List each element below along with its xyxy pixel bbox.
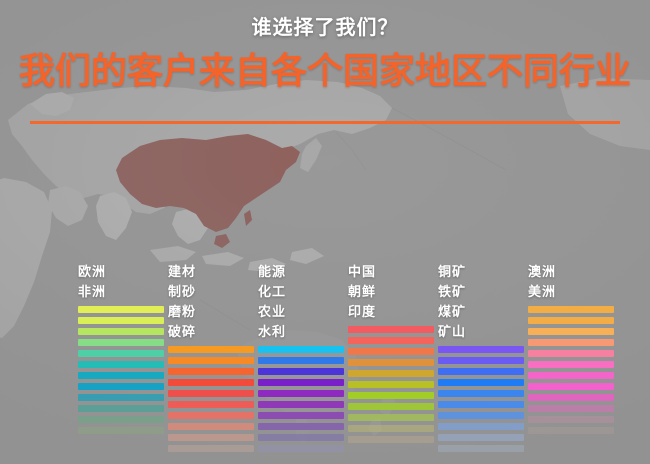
gradient-bar-stack [78, 306, 164, 434]
header: 谁选择了我们？ 我们的客户来自各个国家地区不同行业 [0, 0, 650, 90]
column-label[interactable]: 磨粉 [168, 302, 254, 322]
gradient-bar [258, 434, 344, 441]
gradient-bar [438, 346, 524, 353]
column-label[interactable]: 美洲 [528, 282, 614, 302]
gradient-bar [168, 401, 254, 408]
gradient-bar [438, 434, 524, 441]
gradient-bar [258, 357, 344, 364]
gradient-bar [348, 392, 434, 399]
title-underline-rule [30, 121, 620, 124]
gradient-bar-stack [168, 346, 254, 452]
gradient-bar [78, 427, 164, 434]
gradient-bar [528, 339, 614, 346]
gradient-bar [348, 425, 434, 432]
column-label[interactable]: 制砂 [168, 282, 254, 302]
column-label[interactable]: 非洲 [78, 282, 164, 302]
gradient-bar [78, 317, 164, 324]
gradient-bar [168, 357, 254, 364]
gradient-bar [348, 381, 434, 388]
gradient-bar [528, 394, 614, 401]
gradient-bar-stack [438, 346, 524, 452]
col-regions-2[interactable]: 澳洲美洲 [528, 262, 614, 438]
col-industries[interactable]: 能源化工农业水利 [258, 262, 344, 456]
gradient-bar [78, 416, 164, 423]
column-label[interactable]: 欧洲 [78, 262, 164, 282]
gradient-bar [348, 370, 434, 377]
col-countries[interactable]: 中国朝鲜印度 [348, 262, 434, 447]
gradient-bar [258, 346, 344, 353]
gradient-bar [258, 390, 344, 397]
gradient-bar [348, 337, 434, 344]
column-label[interactable]: 破碎 [168, 322, 254, 342]
gradient-bar [348, 403, 434, 410]
column-label[interactable]: 水利 [258, 322, 344, 342]
col-materials[interactable]: 建材制砂磨粉破碎 [168, 262, 254, 456]
gradient-bar [168, 445, 254, 452]
gradient-bar [78, 306, 164, 313]
page-title: 我们的客户来自各个国家地区不同行业 [0, 52, 650, 90]
gradient-bar [348, 326, 434, 333]
column-label[interactable]: 能源 [258, 262, 344, 282]
page-subtitle: 谁选择了我们？ [0, 18, 650, 38]
gradient-bar [348, 414, 434, 421]
gradient-bar [168, 346, 254, 353]
gradient-bar-stack [528, 306, 614, 434]
gradient-bar [528, 361, 614, 368]
category-columns: 欧洲非洲建材制砂磨粉破碎能源化工农业水利中国朝鲜印度铜矿铁矿煤矿矿山澳洲美洲 [0, 262, 650, 462]
gradient-bar [258, 445, 344, 452]
gradient-bar [258, 401, 344, 408]
gradient-bar [438, 390, 524, 397]
gradient-bar [528, 350, 614, 357]
gradient-bar [78, 361, 164, 368]
gradient-bar [168, 423, 254, 430]
gradient-bar [348, 359, 434, 366]
col-regions-1[interactable]: 欧洲非洲 [78, 262, 164, 438]
gradient-bar [348, 436, 434, 443]
column-label[interactable]: 煤矿 [438, 302, 524, 322]
gradient-bar [438, 379, 524, 386]
column-label[interactable]: 朝鲜 [348, 282, 434, 302]
gradient-bar [438, 357, 524, 364]
gradient-bar [438, 445, 524, 452]
gradient-bar [528, 427, 614, 434]
gradient-bar-stack [258, 346, 344, 452]
col-mining[interactable]: 铜矿铁矿煤矿矿山 [438, 262, 524, 456]
gradient-bar [168, 379, 254, 386]
gradient-bar [78, 405, 164, 412]
gradient-bar [78, 383, 164, 390]
column-label[interactable]: 铜矿 [438, 262, 524, 282]
gradient-bar-stack [348, 326, 434, 443]
gradient-bar [258, 379, 344, 386]
column-label[interactable]: 化工 [258, 282, 344, 302]
column-label[interactable]: 农业 [258, 302, 344, 322]
column-label[interactable]: 矿山 [438, 322, 524, 342]
gradient-bar [258, 423, 344, 430]
gradient-bar [78, 339, 164, 346]
gradient-bar [528, 317, 614, 324]
gradient-bar [438, 368, 524, 375]
column-label[interactable]: 铁矿 [438, 282, 524, 302]
gradient-bar [168, 368, 254, 375]
column-label[interactable]: 建材 [168, 262, 254, 282]
gradient-bar [528, 416, 614, 423]
gradient-bar [528, 372, 614, 379]
gradient-bar [528, 383, 614, 390]
column-label[interactable]: 澳洲 [528, 262, 614, 282]
slide-canvas: 谁选择了我们？ 我们的客户来自各个国家地区不同行业 欧洲非洲建材制砂磨粉破碎能源… [0, 0, 650, 464]
gradient-bar [78, 394, 164, 401]
column-label[interactable]: 印度 [348, 302, 434, 322]
gradient-bar [528, 328, 614, 335]
gradient-bar [168, 434, 254, 441]
gradient-bar [258, 368, 344, 375]
column-label[interactable]: 中国 [348, 262, 434, 282]
gradient-bar [78, 372, 164, 379]
gradient-bar [528, 306, 614, 313]
gradient-bar [438, 423, 524, 430]
gradient-bar [168, 412, 254, 419]
gradient-bar [258, 412, 344, 419]
gradient-bar [348, 348, 434, 355]
gradient-bar [78, 350, 164, 357]
gradient-bar [78, 328, 164, 335]
gradient-bar [438, 412, 524, 419]
gradient-bar [168, 390, 254, 397]
gradient-bar [528, 405, 614, 412]
gradient-bar [438, 401, 524, 408]
